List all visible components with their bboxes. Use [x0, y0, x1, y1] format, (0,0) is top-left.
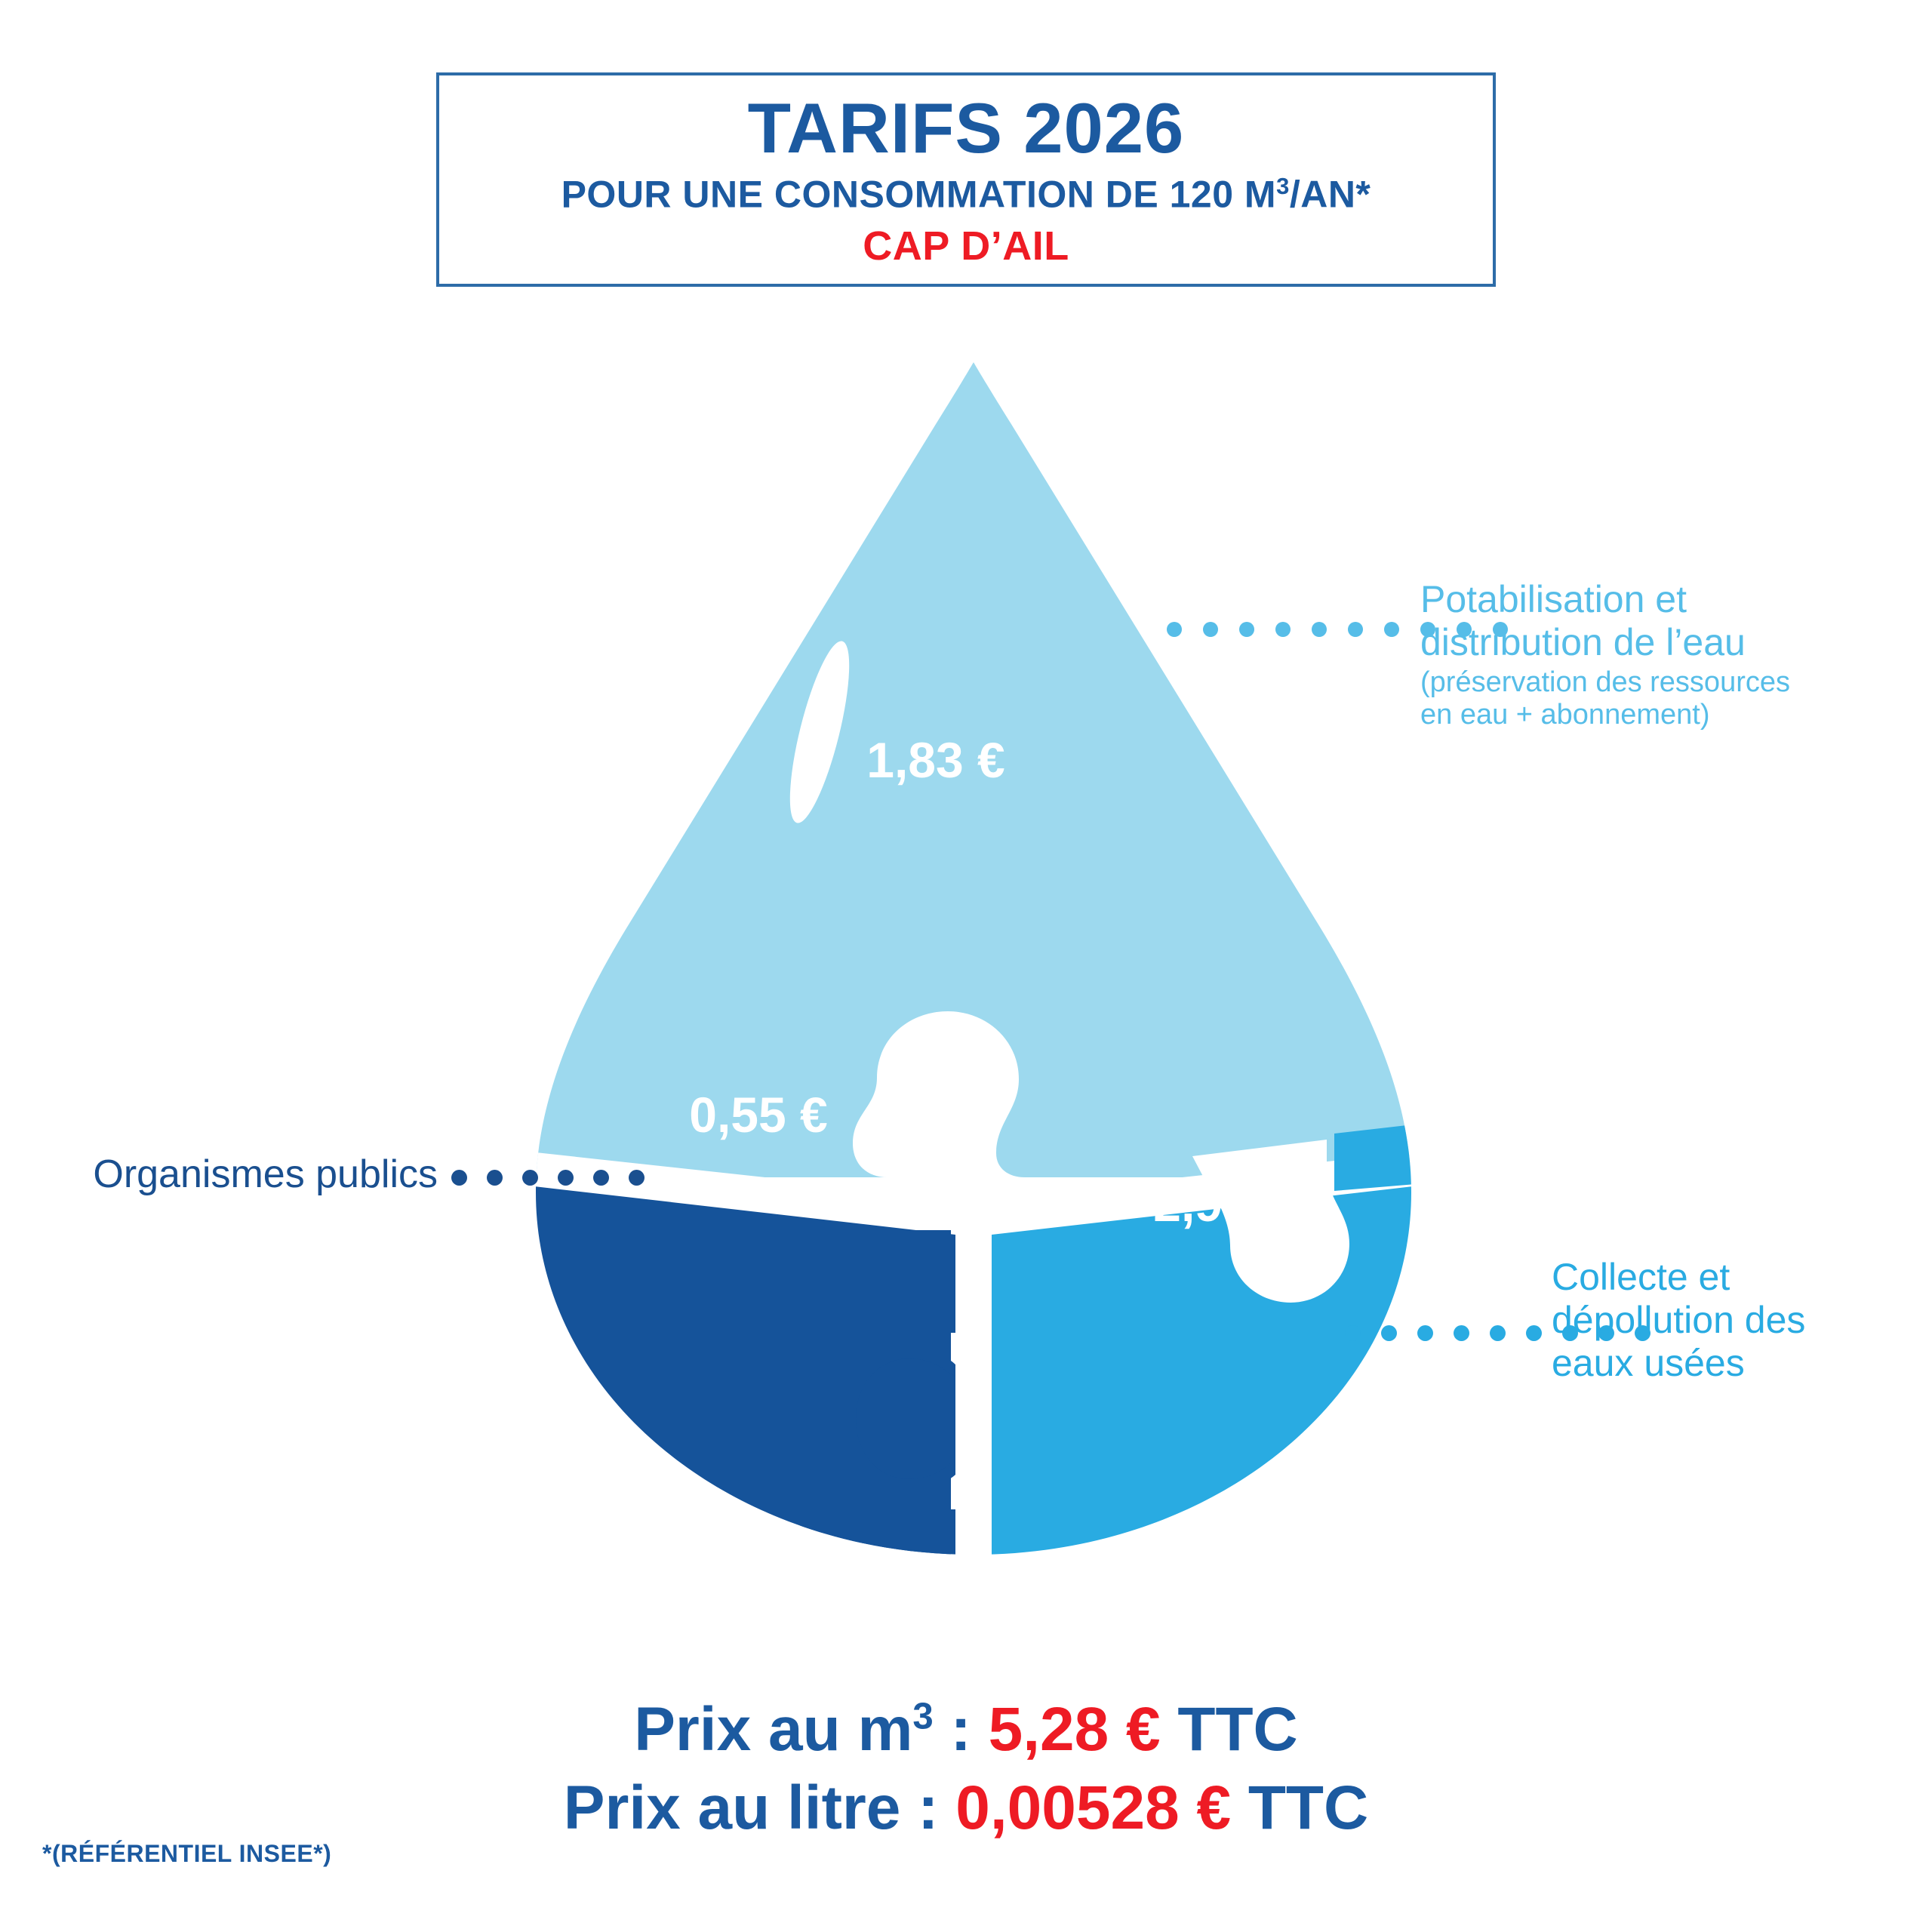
price-per-litre: Prix au litre : 0,00528 € TTC [0, 1769, 1932, 1847]
price-per-litre-suffix: TTC [1231, 1774, 1368, 1842]
price-per-m3-suffix: TTC [1161, 1695, 1298, 1764]
water-price-droplet-chart: 1,83 € 0,55 € 2,90 € [528, 355, 1419, 1562]
price-summary: Prix au m3 : 5,28 € TTC Prix au litre : … [0, 1690, 1932, 1847]
price-per-litre-amount: 0,00528 € [955, 1774, 1231, 1842]
price-per-m3-exponent: 3 [912, 1696, 933, 1737]
footnote-referentiel-insee: *(RÉFÉRENTIEL INSEE*) [42, 1840, 331, 1868]
page-title: TARIFS 2026 [748, 93, 1185, 164]
price-per-m3-separator: : [934, 1695, 989, 1764]
droplet-segment-collecte [992, 1179, 1419, 1562]
legend-collecte: Collecte et dépollution des eaux usées [1552, 1256, 1906, 1385]
price-per-m3-amount: 5,28 € [989, 1695, 1161, 1764]
price-per-litre-label: Prix au litre : [564, 1774, 956, 1842]
consumption-subtitle: POUR UNE CONSOMMATION DE 120 M3/AN* [561, 174, 1371, 214]
value-potabilisation: 1,83 € [866, 732, 1005, 788]
legend-potabilisation: Potabilisation et distribution de l’eau … [1420, 578, 1903, 732]
legend-potabilisation-line1: Potabilisation et [1420, 578, 1903, 621]
header-title-box: TARIFS 2026 POUR UNE CONSOMMATION DE 120… [436, 72, 1496, 287]
subtitle-prefix: POUR UNE CONSOMMATION DE 120 M [561, 174, 1277, 216]
legend-collecte-line2: dépollution des [1552, 1299, 1906, 1342]
subtitle-exponent: 3 [1276, 173, 1290, 199]
legend-potabilisation-note: (préservation des ressources en eau + ab… [1420, 666, 1903, 732]
legend-potabilisation-title: Potabilisation et distribution de l’eau [1420, 578, 1903, 663]
price-per-m3-label: Prix au m [634, 1695, 912, 1764]
connector-dots-organismes [451, 1170, 664, 1186]
legend-organismes: Organismes publics [15, 1153, 438, 1196]
legend-potabilisation-line2: distribution de l’eau [1420, 621, 1903, 664]
legend-potabilisation-note-line1: (préservation des ressources [1420, 666, 1903, 699]
legend-collecte-line1: Collecte et [1552, 1256, 1906, 1299]
value-collecte: 2,90 € [1153, 1176, 1292, 1232]
value-organismes: 0,55 € [689, 1087, 828, 1143]
price-per-m3: Prix au m3 : 5,28 € TTC [0, 1690, 1932, 1769]
subtitle-suffix: /AN* [1290, 174, 1371, 216]
city-name: CAP D’AIL [863, 226, 1069, 266]
legend-potabilisation-note-line2: en eau + abonnement) [1420, 699, 1903, 731]
legend-collecte-line3: eaux usées [1552, 1342, 1906, 1385]
